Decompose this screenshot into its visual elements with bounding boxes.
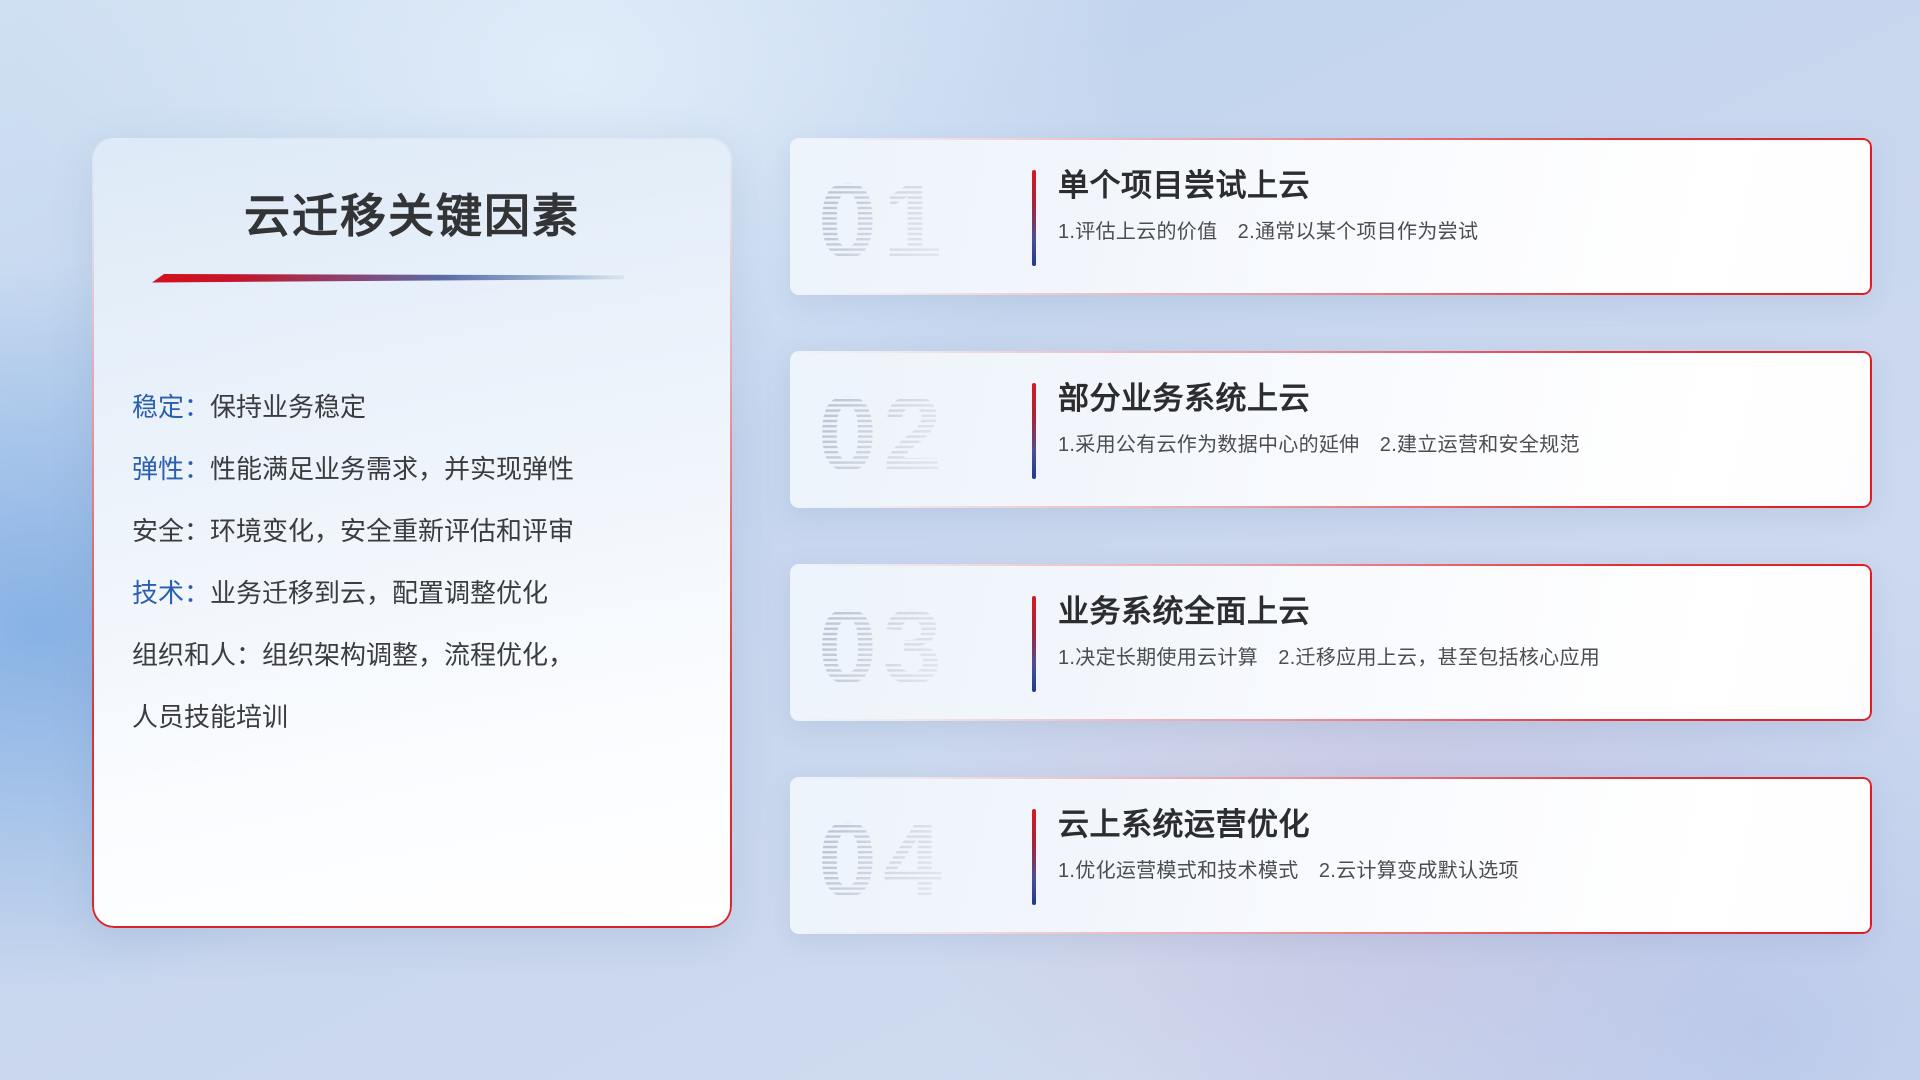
stage-card[interactable]: 03 业务系统全面上云 1.决定长期使用云计算 2.迁移应用上云，甚至包括核心应… <box>790 564 1872 721</box>
factors-list: 稳定：保持业务稳定 弹性：性能满足业务需求，并实现弹性 安全：环境变化，安全重新… <box>132 376 706 748</box>
card-description: 1.采用公有云作为数据中心的延伸 2.建立运营和安全规范 <box>1058 430 1848 460</box>
svg-text:04: 04 <box>818 801 948 912</box>
svg-text:02: 02 <box>818 375 948 486</box>
stage-card[interactable]: 02 部分业务系统上云 1.采用公有云作为数据中心的延伸 2.建立运营和安全规范 <box>790 351 1872 508</box>
factor-text: 人员技能培训 <box>132 702 288 732</box>
factor-key: 技术： <box>132 578 210 608</box>
card-description: 1.优化运营模式和技术模式 2.云计算变成默认选项 <box>1058 856 1848 886</box>
list-item: 弹性：性能满足业务需求，并实现弹性 <box>132 438 706 500</box>
card-accent-bar <box>1032 170 1036 266</box>
list-item: 人员技能培训 <box>132 686 706 748</box>
list-item: 稳定：保持业务稳定 <box>132 376 706 438</box>
factor-key: 安全： <box>132 516 210 546</box>
card-description: 1.决定长期使用云计算 2.迁移应用上云，甚至包括核心应用 <box>1058 643 1848 673</box>
stage-cards-list: 01 单个项目尝试上云 1.评估上云的价值 2.通常以某个项目作为尝试 02 部… <box>790 138 1872 990</box>
stage-number-01-icon: 01 <box>818 160 986 273</box>
factor-text: 组织架构调整，流程优化， <box>262 640 574 670</box>
page-title: 云迁移关键因素 <box>92 180 732 246</box>
factor-text: 业务迁移到云，配置调整优化 <box>210 578 548 608</box>
svg-text:01: 01 <box>818 162 948 273</box>
card-title: 云上系统运营优化 <box>1058 803 1848 847</box>
svg-text:03: 03 <box>818 588 948 699</box>
list-item: 组织和人：组织架构调整，流程优化， <box>132 624 706 686</box>
card-body: 部分业务系统上云 1.采用公有云作为数据中心的延伸 2.建立运营和安全规范 <box>1058 377 1848 460</box>
card-title: 单个项目尝试上云 <box>1058 164 1848 208</box>
factor-text: 保持业务稳定 <box>210 392 366 422</box>
title-underline-rule <box>152 271 624 282</box>
stage-number-04-icon: 04 <box>818 799 986 912</box>
card-body: 单个项目尝试上云 1.评估上云的价值 2.通常以某个项目作为尝试 <box>1058 164 1848 247</box>
factor-key: 弹性： <box>132 454 210 484</box>
card-description: 1.评估上云的价值 2.通常以某个项目作为尝试 <box>1058 217 1848 247</box>
stage-number-03-icon: 03 <box>818 586 986 699</box>
factor-text: 性能满足业务需求，并实现弹性 <box>210 454 574 484</box>
stage-card[interactable]: 01 单个项目尝试上云 1.评估上云的价值 2.通常以某个项目作为尝试 <box>790 138 1872 295</box>
factor-key: 稳定： <box>132 392 210 422</box>
card-accent-bar <box>1032 383 1036 479</box>
factor-text: 环境变化，安全重新评估和评审 <box>210 516 574 546</box>
card-accent-bar <box>1032 596 1036 692</box>
list-item: 技术：业务迁移到云，配置调整优化 <box>132 562 706 624</box>
card-body: 业务系统全面上云 1.决定长期使用云计算 2.迁移应用上云，甚至包括核心应用 <box>1058 590 1848 673</box>
slide-canvas: 云迁移关键因素 稳定：保持业务稳定 <box>0 0 1920 1080</box>
list-item: 安全：环境变化，安全重新评估和评审 <box>132 500 706 562</box>
factor-key: 组织和人： <box>132 640 262 670</box>
card-body: 云上系统运营优化 1.优化运营模式和技术模式 2.云计算变成默认选项 <box>1058 803 1848 886</box>
card-title: 业务系统全面上云 <box>1058 590 1848 634</box>
stage-number-02-icon: 02 <box>818 373 986 486</box>
key-factors-panel: 云迁移关键因素 稳定：保持业务稳定 <box>92 138 732 928</box>
stage-card[interactable]: 04 云上系统运营优化 1.优化运营模式和技术模式 2.云计算变成默认选项 <box>790 777 1872 934</box>
card-accent-bar <box>1032 809 1036 905</box>
card-title: 部分业务系统上云 <box>1058 377 1848 421</box>
